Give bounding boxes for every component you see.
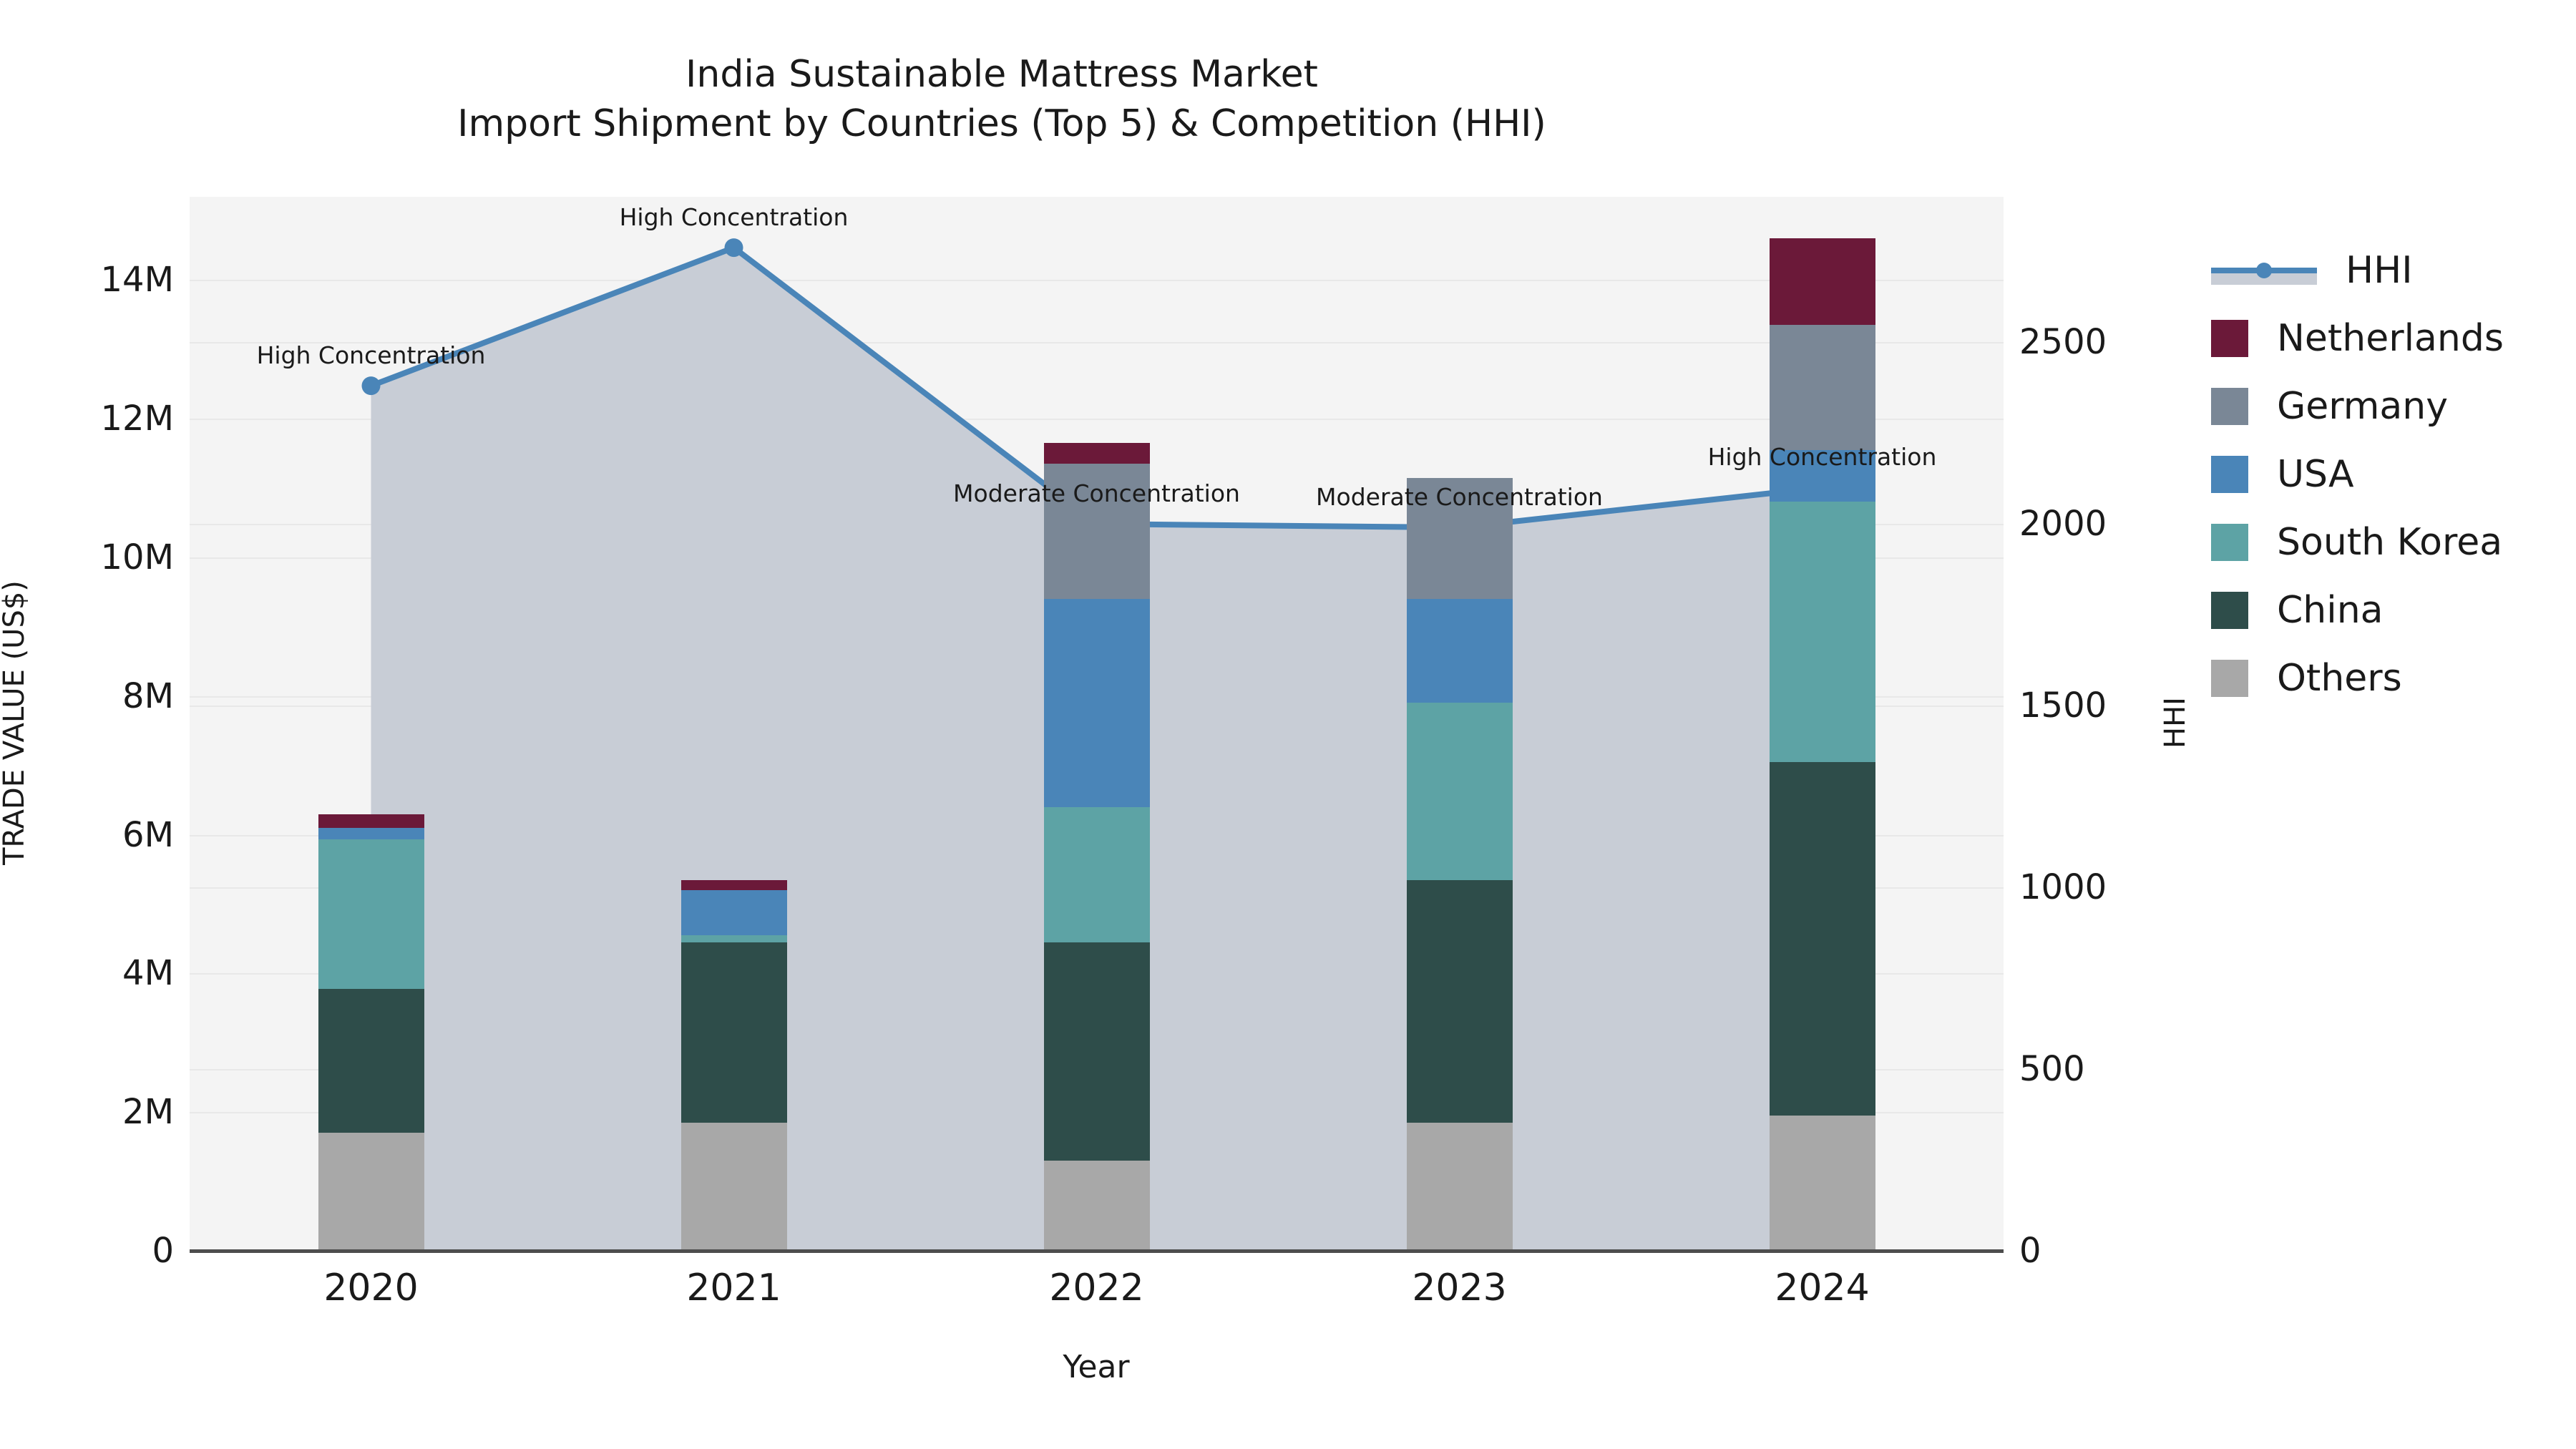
y2-axis-tick-label: 2000 [2019,504,2107,544]
bar-segment[interactable] [1770,762,1875,1116]
bar-segment[interactable] [1770,238,1875,325]
bar-segment[interactable] [1407,1123,1513,1251]
bar-segment[interactable] [1770,325,1875,449]
y2-axis-label: HHI [2159,697,2192,748]
chart-canvas: India Sustainable Mattress Market Import… [0,0,2576,1449]
bar-segment[interactable] [681,880,787,891]
y2-axis-tick-label: 1000 [2019,867,2107,907]
y-axis-tick-label: 6M [122,815,174,855]
bar-segment[interactable] [1044,1161,1150,1251]
chart-title-line-1: India Sustainable Mattress Market [0,50,2004,99]
bar-stack[interactable] [1044,197,1150,1251]
hhi-annotation-label: High Concentration [257,341,486,369]
x-axis-tick-label: 2021 [686,1267,781,1309]
chart-title: India Sustainable Mattress Market Import… [0,50,2004,148]
bar-segment[interactable] [681,890,787,935]
x-axis-tick-label: 2024 [1775,1267,1869,1309]
legend-color-swatch [2211,388,2248,425]
legend-color-swatch [2211,524,2248,561]
x-axis-tick-label: 2020 [323,1267,418,1309]
legend-item[interactable]: Germany [2211,372,2504,440]
legend-item-label: Germany [2277,385,2448,428]
x-axis-tick-label: 2023 [1412,1267,1506,1309]
y-axis-tick-label: 12M [101,399,175,439]
plot-area: High ConcentrationHigh ConcentrationMode… [190,197,2004,1251]
bar-segment[interactable] [318,814,424,828]
legend-item-label: USA [2277,453,2354,496]
bar-segment[interactable] [1770,502,1875,761]
legend: HHINetherlandsGermanyUSASouth KoreaChina… [2211,236,2504,712]
y-axis-label: TRADE VALUE (US$) [0,580,31,865]
x-axis-label: Year [1063,1349,1129,1385]
bar-segment[interactable] [681,1123,787,1251]
bar-segment[interactable] [318,828,424,839]
legend-item-label: China [2277,589,2384,632]
x-axis-line [190,1249,2004,1253]
y-axis-tick-label: 4M [122,953,174,993]
bar-segment[interactable] [318,839,424,988]
bar-segment[interactable] [318,989,424,1133]
y2-axis-tick-label: 2500 [2019,322,2107,362]
bar-segment[interactable] [1407,880,1513,1123]
bar-stack[interactable] [1770,197,1875,1251]
bar-segment[interactable] [1044,942,1150,1161]
bar-segment[interactable] [681,942,787,1123]
legend-item-label: Others [2277,657,2402,700]
hhi-annotation-label: High Concentration [1708,443,1937,471]
legend-line-dot [2256,263,2272,278]
y-axis-tick-label: 0 [152,1231,174,1271]
bar-segment[interactable] [1407,599,1513,703]
bar-segment[interactable] [1044,807,1150,942]
y2-axis-tick-label: 1500 [2019,686,2107,726]
legend-color-swatch [2211,320,2248,357]
bar-stack[interactable] [1407,197,1513,1251]
bar-segment[interactable] [1044,443,1150,464]
legend-item[interactable]: Others [2211,644,2504,712]
legend-item-label: HHI [2346,249,2413,292]
legend-color-swatch [2211,660,2248,697]
legend-item[interactable]: China [2211,576,2504,644]
bar-segment[interactable] [318,1133,424,1251]
x-axis-tick-label: 2022 [1049,1267,1143,1309]
legend-item-label: South Korea [2277,521,2502,564]
hhi-annotation-label: Moderate Concentration [1316,483,1603,511]
bar-segment[interactable] [1044,599,1150,807]
legend-color-swatch [2211,456,2248,493]
y2-axis-tick-label: 500 [2019,1049,2085,1089]
hhi-annotation-label: High Concentration [620,203,849,231]
legend-item[interactable]: South Korea [2211,508,2504,576]
chart-title-line-2: Import Shipment by Countries (Top 5) & C… [0,99,2004,149]
y2-axis-tick-label: 0 [2019,1231,2041,1271]
bar-stack[interactable] [681,197,787,1251]
hhi-annotation-label: Moderate Concentration [953,479,1240,507]
legend-line-marker [2211,252,2317,289]
legend-item-label: Netherlands [2277,317,2504,360]
bar-segment[interactable] [1407,703,1513,879]
y-axis-tick-label: 10M [101,537,175,577]
legend-item[interactable]: Netherlands [2211,304,2504,372]
bar-segment[interactable] [1770,1116,1875,1251]
y-axis-tick-label: 8M [122,676,174,716]
y-axis-tick-label: 2M [122,1092,174,1132]
legend-color-swatch [2211,592,2248,629]
y-axis-tick-label: 14M [101,260,175,300]
legend-item[interactable]: HHI [2211,236,2504,304]
bar-segment[interactable] [681,935,787,942]
legend-item[interactable]: USA [2211,440,2504,508]
